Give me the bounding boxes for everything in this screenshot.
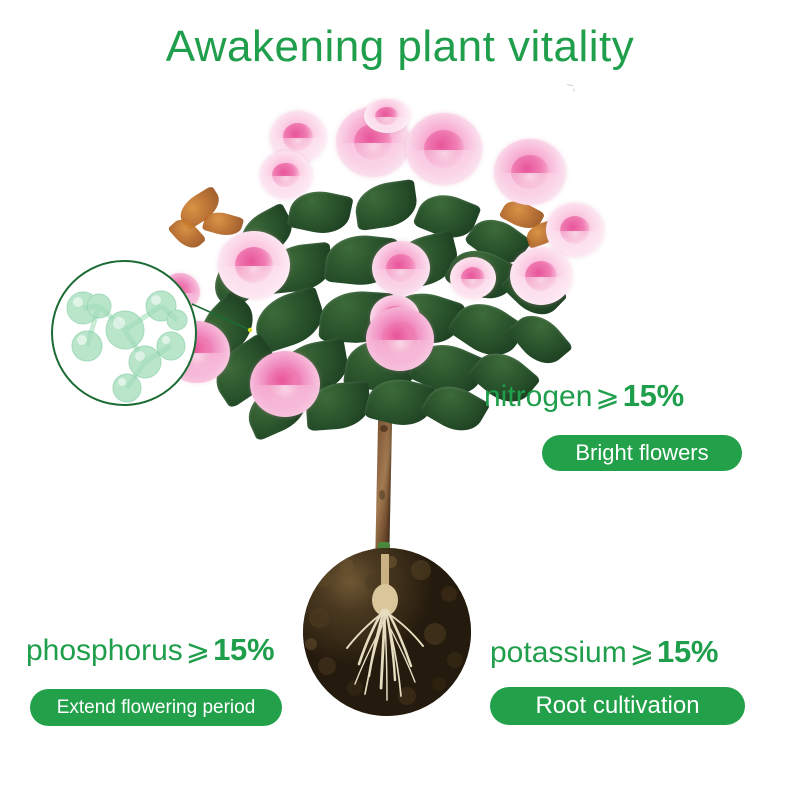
trunk-knot-icon — [380, 425, 388, 432]
leaf-icon — [352, 179, 420, 231]
nutrient-label-nitrogen: nitrogen⩾15% — [484, 378, 684, 414]
rose-bloom-icon — [510, 247, 572, 305]
rose-bloom-icon — [218, 231, 290, 299]
nutrient-value: 15% — [657, 634, 718, 669]
nutrient-operator: ⩾ — [183, 635, 213, 667]
root-soil-icon — [303, 548, 471, 716]
rose-bloom-icon — [546, 203, 604, 257]
molecule-icon — [53, 262, 199, 408]
nutrient-label-phosphorus: phosphorus⩾15% — [26, 632, 274, 668]
benefit-badge-potassium[interactable]: Root cultivation — [490, 687, 745, 725]
page-title: Awakening plant vitality — [0, 22, 800, 72]
rose-bloom-icon — [494, 139, 566, 205]
rose-bloom-icon — [406, 113, 482, 185]
rose-bloom-icon — [366, 307, 434, 371]
nutrient-value: 15% — [623, 378, 684, 413]
benefit-badge-phosphorus[interactable]: Extend flowering period — [30, 689, 282, 726]
rose-bloom-icon — [250, 351, 320, 417]
smudge-mark: ~, — [565, 79, 583, 93]
rose-bloom-icon — [450, 257, 496, 299]
trunk-knot-icon — [379, 490, 385, 500]
product-poster: Awakening plant vitality ~, — [0, 0, 800, 800]
molecule-badge — [51, 260, 197, 406]
rose-plant-illustration — [150, 95, 670, 575]
rose-bloom-icon — [260, 151, 312, 199]
root-soil-badge — [303, 548, 471, 716]
nutrient-label-potassium: potassium⩾15% — [490, 634, 718, 670]
nutrient-name: phosphorus — [26, 634, 183, 667]
nutrient-name: potassium — [490, 636, 627, 669]
nutrient-value: 15% — [213, 632, 274, 667]
rose-bloom-icon — [372, 241, 430, 295]
benefit-badge-nitrogen[interactable]: Bright flowers — [542, 435, 742, 471]
nutrient-operator: ⩾ — [592, 381, 622, 413]
nutrient-operator: ⩾ — [627, 637, 657, 669]
nutrient-name: nitrogen — [484, 380, 592, 413]
rose-bloom-icon — [364, 99, 410, 133]
